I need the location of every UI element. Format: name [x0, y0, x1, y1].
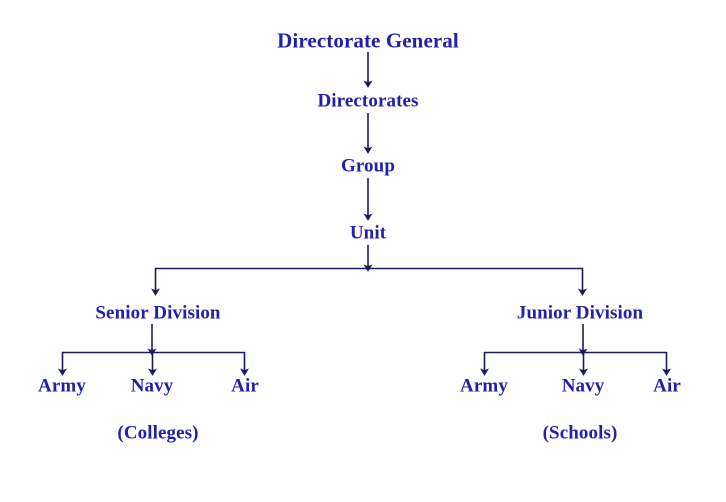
node-directorates: Directorates: [317, 92, 418, 111]
node-junior-division: Junior Division: [517, 304, 643, 323]
node-unit: Unit: [350, 224, 386, 243]
node-group: Group: [341, 157, 395, 176]
node-junior-navy: Navy: [562, 377, 605, 396]
node-junior-army: Army: [460, 377, 508, 396]
node-senior-division: Senior Division: [95, 304, 220, 323]
caption-senior-colleges: (Colleges): [117, 424, 198, 443]
node-senior-air: Air: [231, 377, 259, 396]
node-senior-army: Army: [38, 377, 86, 396]
caption-junior-schools: (Schools): [543, 424, 618, 443]
org-chart-diagram: Directorate General Directorates Group U…: [0, 0, 726, 502]
node-directorate-general: Directorate General: [277, 31, 459, 52]
node-junior-air: Air: [653, 377, 681, 396]
node-senior-navy: Navy: [131, 377, 174, 396]
